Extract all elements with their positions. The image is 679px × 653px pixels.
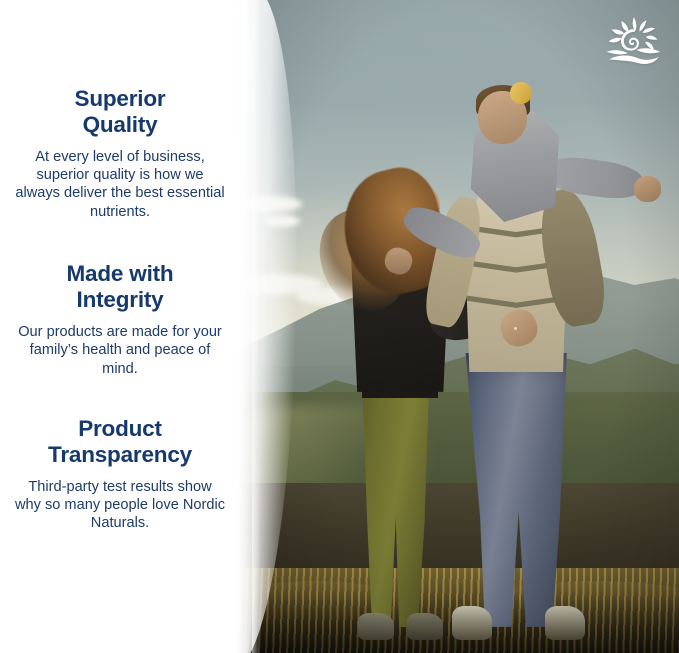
family-lifestyle-photo [233,0,679,653]
value-prop-heading: Product Transparency [14,416,226,469]
value-prop-superior-quality: Superior Quality At every level of busin… [0,86,240,221]
heading-line-1: Product [78,416,162,441]
value-props-column: Superior Quality At every level of busin… [0,0,240,653]
value-prop-heading: Made with Integrity [14,261,226,314]
cloud [242,196,302,212]
value-prop-made-with-integrity: Made with Integrity Our products are mad… [0,261,240,378]
value-prop-heading: Superior Quality [14,86,226,139]
brand-logo [603,16,665,68]
child-hair-bow [510,82,532,105]
shoe [545,606,585,640]
heading-line-2: Integrity [77,287,164,312]
ring [514,327,517,330]
heading-line-1: Superior [75,86,166,111]
shoe [358,613,394,640]
shoe [452,606,492,640]
value-prop-body: At every level of business, superior qua… [14,148,226,222]
shoe [407,613,443,640]
value-prop-product-transparency: Product Transparency Third-party test re… [0,416,240,533]
heading-line-2: Transparency [48,442,192,467]
value-prop-body: Third-party test results show why so man… [14,478,226,533]
brand-feature-graphic: Superior Quality At every level of busin… [0,0,679,653]
value-prop-body: Our products are made for your family’s … [14,323,226,378]
heading-line-1: Made with [67,261,174,286]
child-hand-right [634,176,661,202]
heading-line-2: Quality [83,112,158,137]
sun-wave-logo-icon [603,16,665,68]
